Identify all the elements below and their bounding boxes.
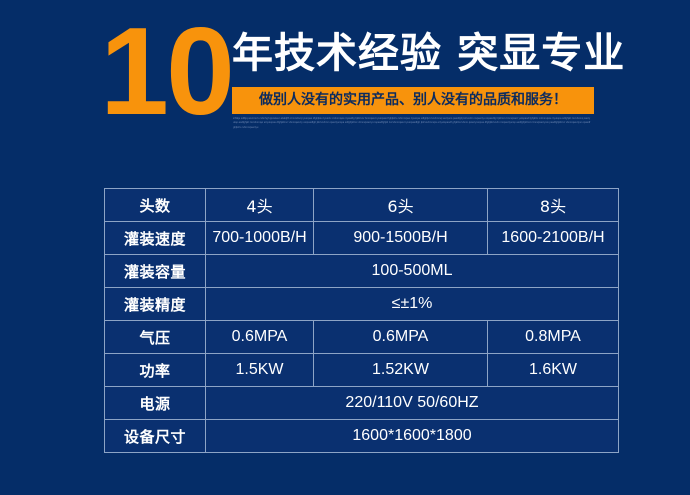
page-title: 年技术经验 突显专业 (232, 27, 598, 79)
specification-table-body: 头数4头6头8头灌装速度700-1000B/H900-1500B/H1600-2… (105, 189, 619, 453)
row-value-cell: 8头 (488, 189, 619, 222)
row-value-cell: 6头 (314, 189, 488, 222)
fineprint-text: ichlkje sdfkjq wernmzx cvbnhgf qpowieur … (233, 117, 591, 139)
row-value-cell: 0.6MPA (206, 321, 314, 354)
specification-table: 头数4头6头8头灌装速度700-1000B/H900-1500B/H1600-2… (104, 188, 619, 453)
table-row: 设备尺寸1600*1600*1800 (105, 420, 619, 453)
subheadline-text: 做别人没有的实用产品、别人没有的品质和服务！ (232, 87, 594, 114)
row-value-cell: 900-1500B/H (314, 222, 488, 255)
row-value-cell: 4头 (206, 189, 314, 222)
row-value-cell: 1.52KW (314, 354, 488, 387)
row-value-cell: 1.6KW (488, 354, 619, 387)
table-row: 气压0.6MPA0.6MPA0.8MPA (105, 321, 619, 354)
table-row: 头数4头6头8头 (105, 189, 619, 222)
table-row: 灌装速度700-1000B/H900-1500B/H1600-2100B/H (105, 222, 619, 255)
row-label: 电源 (105, 387, 206, 420)
banner-header: 10 年技术经验 突显专业 做别人没有的实用产品、别人没有的品质和服务！ ich… (0, 0, 690, 160)
row-label: 灌装速度 (105, 222, 206, 255)
row-value-cell: 1.5KW (206, 354, 314, 387)
table-row: 灌装容量100-500ML (105, 255, 619, 288)
row-label: 头数 (105, 189, 206, 222)
table-row: 功率1.5KW1.52KW1.6KW (105, 354, 619, 387)
row-value-cell: 0.8MPA (488, 321, 619, 354)
row-label: 灌装容量 (105, 255, 206, 288)
table-row: 灌装精度≤±1% (105, 288, 619, 321)
row-label: 功率 (105, 354, 206, 387)
years-number: 10 (96, 8, 236, 136)
table-row: 电源220/110V 50/60HZ (105, 387, 619, 420)
promo-banner: 10 年技术经验 突显专业 做别人没有的实用产品、别人没有的品质和服务！ ich… (0, 0, 690, 495)
subheadline-bar: 做别人没有的实用产品、别人没有的品质和服务！ (232, 87, 594, 114)
row-label: 灌装精度 (105, 288, 206, 321)
row-value-cell: 1600-2100B/H (488, 222, 619, 255)
row-value-cell: 700-1000B/H (206, 222, 314, 255)
row-value-merged: 100-500ML (206, 255, 619, 288)
row-value-merged: 1600*1600*1800 (206, 420, 619, 453)
row-label: 设备尺寸 (105, 420, 206, 453)
row-label: 气压 (105, 321, 206, 354)
row-value-merged: ≤±1% (206, 288, 619, 321)
row-value-merged: 220/110V 50/60HZ (206, 387, 619, 420)
row-value-cell: 0.6MPA (314, 321, 488, 354)
